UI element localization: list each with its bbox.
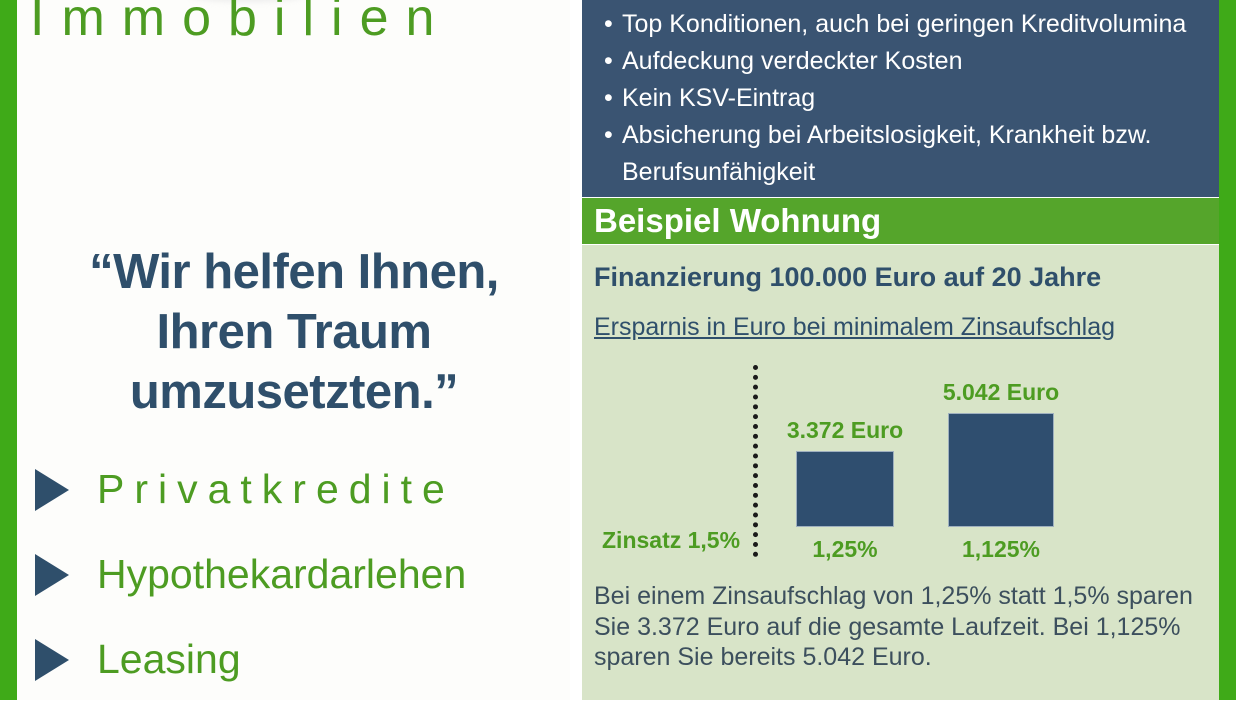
service-label: Privatkredite [97, 466, 455, 513]
bar-rect [796, 451, 894, 527]
savings-bar-chart: Zinsatz 1,5% 3.372 Euro 1,25% 5.042 Euro… [594, 355, 1207, 565]
triangle-bullet-icon [35, 554, 69, 596]
list-item[interactable]: Privatkredite [17, 447, 570, 532]
bar-value-label: 5.042 Euro [943, 379, 1059, 406]
benefit-text: Top Konditionen, auch bei geringen Kredi… [622, 6, 1199, 43]
left-panel: Immobilien “Wir helfen Ihnen, Ihren Trau… [17, 0, 570, 700]
bar-category-label: 1,125% [962, 536, 1040, 563]
list-item: • Kein KSV-Eintrag [604, 80, 1199, 117]
list-item[interactable]: Hypothekardarlehen [17, 532, 570, 617]
financing-title: Finanzierung 100.000 Euro auf 20 Jahre [594, 263, 1207, 293]
benefit-text: Aufdeckung verdeckter Kosten [622, 43, 1199, 80]
bullet-dot-icon: • [604, 80, 622, 117]
bar-category-label: 1,25% [812, 536, 877, 563]
bar-group-1: 3.372 Euro 1,25% [796, 451, 894, 527]
section-header-beispiel-wohnung: Beispiel Wohnung [582, 198, 1219, 244]
benefit-text: Kein KSV-Eintrag [622, 80, 1199, 117]
triangle-bullet-icon [35, 639, 69, 681]
benefit-text: Absicherung bei Arbeitslosigkeit, Krankh… [622, 117, 1199, 191]
baseline-label: Zinsatz 1,5% [602, 527, 740, 554]
bullet-dot-icon: • [604, 6, 622, 43]
service-list: Privatkredite Hypothekardarlehen Leasing [17, 447, 570, 702]
baseline-dotted-axis [753, 365, 758, 557]
list-item: • Top Konditionen, auch bei geringen Kre… [604, 6, 1199, 43]
list-item: • Aufdeckung verdeckter Kosten [604, 43, 1199, 80]
list-item: • Absicherung bei Arbeitslosigkeit, Kran… [604, 117, 1199, 191]
bullet-dot-icon: • [604, 43, 622, 80]
right-green-rail [1219, 0, 1236, 700]
brand-wordmark: Immobilien [30, 0, 550, 44]
right-panel: • Top Konditionen, auch bei geringen Kre… [582, 0, 1219, 700]
savings-subtitle: Ersparnis in Euro bei minimalem Zinsaufs… [594, 314, 1207, 342]
left-green-rail [0, 0, 17, 700]
triangle-bullet-icon [35, 469, 69, 511]
explanation-paragraph: Bei einem Zinsaufschlag von 1,25% statt … [594, 581, 1207, 673]
bar-group-2: 5.042 Euro 1,125% [948, 413, 1054, 527]
bar-rect [948, 413, 1054, 527]
headline-quote: “Wir helfen Ihnen, Ihren Traum umzusetzt… [33, 243, 555, 422]
service-label: Hypothekardarlehen [97, 551, 466, 598]
list-item[interactable]: Leasing [17, 617, 570, 702]
service-label: Leasing [97, 636, 241, 683]
bullet-dot-icon: • [604, 117, 622, 191]
bar-value-label: 3.372 Euro [787, 417, 903, 444]
example-panel: Finanzierung 100.000 Euro auf 20 Jahre E… [582, 245, 1219, 700]
benefits-panel: • Top Konditionen, auch bei geringen Kre… [582, 0, 1219, 197]
